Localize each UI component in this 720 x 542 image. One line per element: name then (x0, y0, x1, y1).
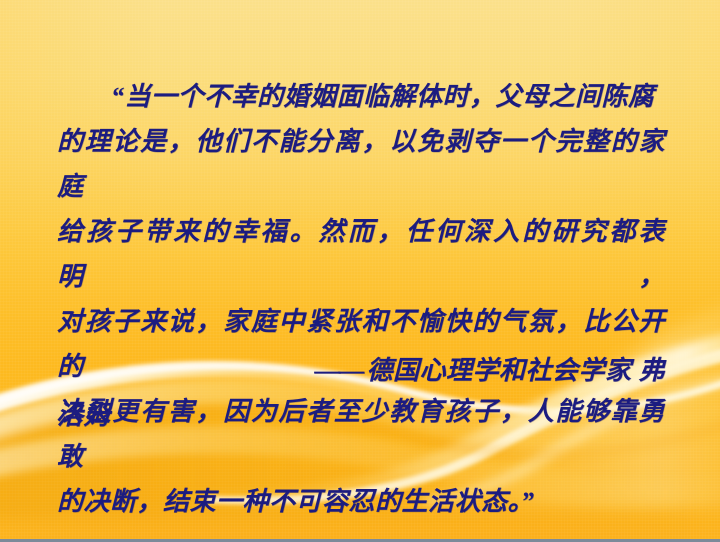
slide-content: “当一个不幸的婚姻面临解体时，父母之间陈腐 的理论是，他们不能分离，以免剥夺一个… (0, 0, 720, 542)
attribution-wrap-line: 洛姆 (57, 393, 110, 438)
attribution-source: 德国心理学和社会学家 弗 (366, 356, 665, 385)
quote-line-5: 决裂更有害，因为后者至少教育孩子，人能够靠勇敢 (57, 389, 665, 479)
quote-line-3: 给孩子带来的幸福。然而，任何深入的研究都表明， (57, 209, 665, 299)
attribution-dash: —— (314, 356, 362, 385)
attribution-line[interactable]: ——德国心理学和社会学家 弗 (57, 348, 665, 393)
slide-canvas: “当一个不幸的婚姻面临解体时，父母之间陈腐 的理论是，他们不能分离，以免剥夺一个… (0, 0, 720, 542)
quote-line-6: 的决断，结束一种不可容忍的生活状态。” (57, 479, 665, 524)
quote-line-2: 的理论是，他们不能分离，以免剥夺一个完整的家庭 (57, 119, 665, 209)
quote-line-1: “当一个不幸的婚姻面临解体时，父母之间陈腐 (57, 74, 665, 119)
quote-text-box[interactable]: “当一个不幸的婚姻面临解体时，父母之间陈腐 的理论是，他们不能分离，以免剥夺一个… (57, 74, 665, 524)
